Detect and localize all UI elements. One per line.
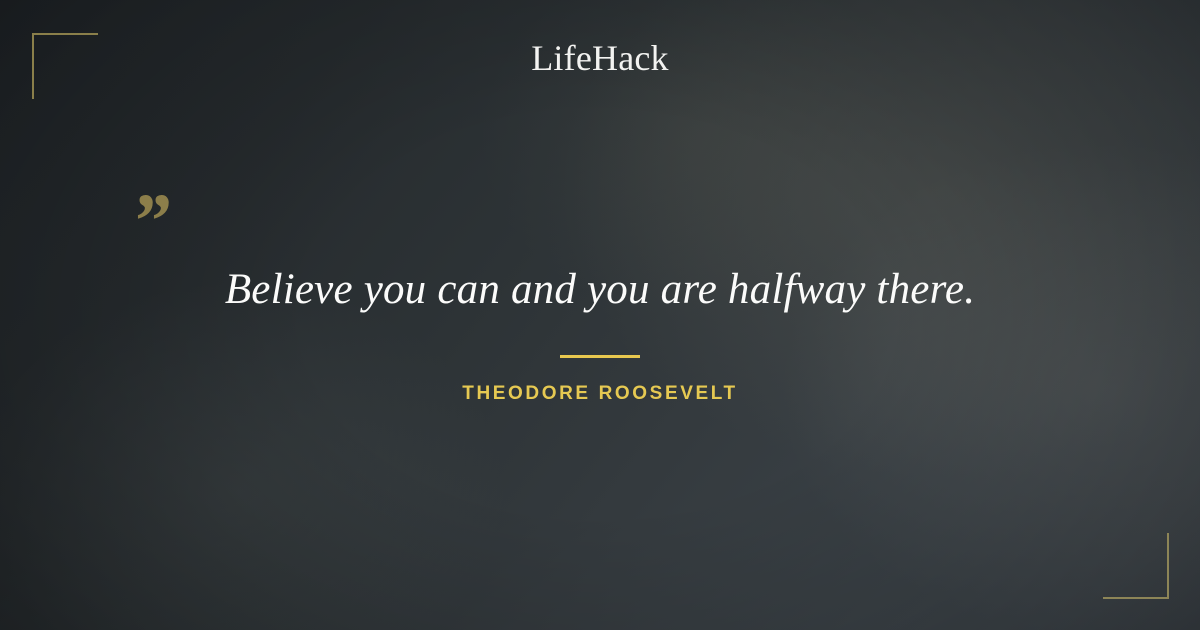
corner-bracket-bottom-right-icon xyxy=(1103,533,1169,599)
quote-block: Believe you can and you are halfway ther… xyxy=(0,262,1200,405)
quote-divider xyxy=(560,355,640,358)
quotation-mark-icon: ” xyxy=(131,182,170,260)
quote-author: THEODORE ROOSEVELT xyxy=(0,383,1200,405)
quote-card: LifeHack ” Believe you can and you are h… xyxy=(0,0,1200,630)
quote-text: Believe you can and you are halfway ther… xyxy=(0,262,1200,317)
brand-logo: LifeHack xyxy=(0,40,1200,76)
